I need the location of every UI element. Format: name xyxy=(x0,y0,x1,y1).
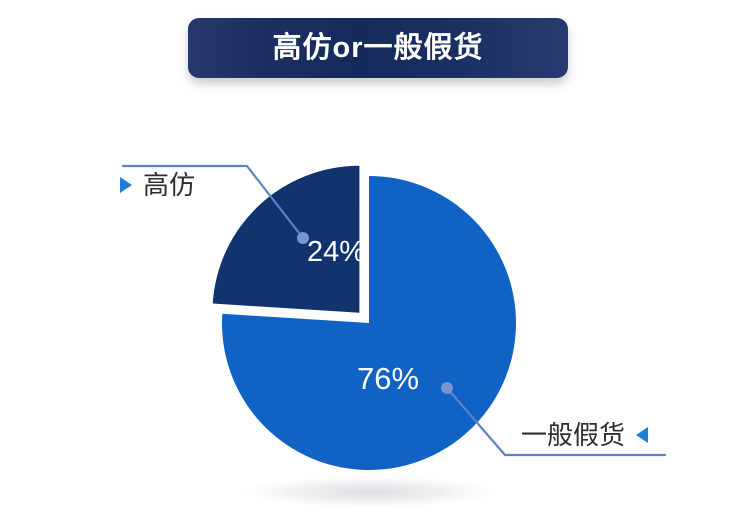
triangle-left-icon xyxy=(636,427,648,443)
pie-ground-shadow xyxy=(243,476,497,508)
chart-area: 24% 76% 高仿 一般假货 xyxy=(0,0,750,526)
triangle-right-icon xyxy=(120,177,132,193)
callout-label-gaofang[interactable]: 高仿 xyxy=(120,172,195,198)
slice-value-small: 24% xyxy=(307,238,365,267)
callout-dot-large xyxy=(441,382,453,394)
callout-label-yibanjiahuo[interactable]: 一般假货 xyxy=(521,422,648,448)
callout-label-yibanjiahuo-text: 一般假货 xyxy=(521,422,625,448)
callout-label-gaofang-text: 高仿 xyxy=(143,172,195,198)
pie-chart-infographic: 高仿or一般假货 xyxy=(0,0,750,526)
slice-value-large: 76% xyxy=(357,363,419,394)
